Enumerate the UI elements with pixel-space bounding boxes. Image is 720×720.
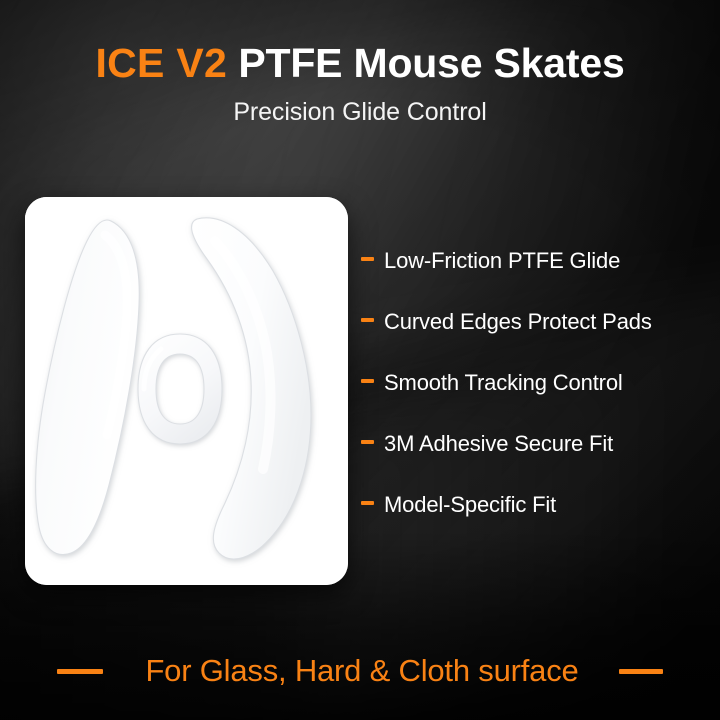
dash-bullet-icon xyxy=(361,440,374,444)
feature-label: Low-Friction PTFE Glide xyxy=(384,248,620,274)
brand-name: ICE V2 xyxy=(95,40,227,86)
product-marketing-poster: ICE V2 PTFE Mouse Skates Precision Glide… xyxy=(0,0,720,720)
feature-item: Curved Edges Protect Pads xyxy=(361,309,706,370)
bottom-banner: For Glass, Hard & Cloth surface xyxy=(0,641,720,701)
banner-rule-left-icon xyxy=(57,669,103,674)
feature-label: Model-Specific Fit xyxy=(384,492,556,518)
page-title: ICE V2 PTFE Mouse Skates xyxy=(0,42,720,85)
dash-bullet-icon xyxy=(361,257,374,261)
product-name: PTFE Mouse Skates xyxy=(238,40,624,86)
feature-item: Low-Friction PTFE Glide xyxy=(361,248,706,309)
banner-rule-right-icon xyxy=(619,669,663,674)
feature-list: Low-Friction PTFE Glide Curved Edges Pro… xyxy=(361,248,706,553)
dash-bullet-icon xyxy=(361,379,374,383)
feature-item: Model-Specific Fit xyxy=(361,492,706,553)
dash-bullet-icon xyxy=(361,318,374,322)
dash-bullet-icon xyxy=(361,501,374,505)
feature-item: Smooth Tracking Control xyxy=(361,370,706,431)
product-illustration xyxy=(25,197,348,585)
product-image-card xyxy=(25,197,348,585)
page-subtitle: Precision Glide Control xyxy=(0,98,720,127)
header: ICE V2 PTFE Mouse Skates Precision Glide… xyxy=(0,42,720,127)
feature-label: Smooth Tracking Control xyxy=(384,370,623,396)
feature-label: Curved Edges Protect Pads xyxy=(384,309,652,335)
feature-item: 3M Adhesive Secure Fit xyxy=(361,431,706,492)
banner-text: For Glass, Hard & Cloth surface xyxy=(145,653,578,689)
feature-label: 3M Adhesive Secure Fit xyxy=(384,431,613,457)
